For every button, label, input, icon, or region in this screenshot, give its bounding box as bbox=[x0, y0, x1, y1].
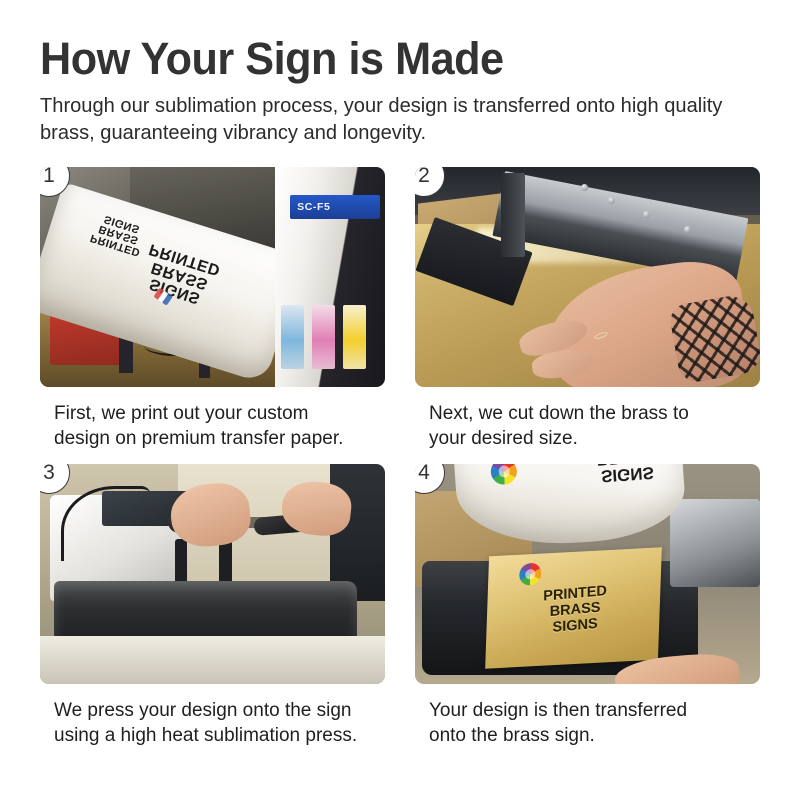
step-3: 3 We press your design onto the sign usi… bbox=[40, 464, 385, 749]
sign-line-3: SIGNS bbox=[553, 616, 598, 636]
step-2-photo: 2 bbox=[415, 167, 760, 387]
step-3-caption: We press your design onto the sign using… bbox=[54, 698, 385, 749]
page-title: How Your Sign is Made bbox=[40, 36, 731, 82]
blade-bolt bbox=[581, 184, 588, 191]
step-4-caption: Your design is then transferred onto the… bbox=[429, 698, 760, 749]
printer-model-panel: SC-F5 bbox=[290, 195, 380, 219]
brand-logo-icon bbox=[519, 563, 542, 586]
roll-text: SIGNSBRASSPRINTED bbox=[588, 464, 666, 485]
blade-bolt bbox=[684, 226, 691, 233]
step-1: PRINTED BRASS SIGNS SIGNSBRASSPRINTED SC… bbox=[40, 167, 385, 452]
press-cloth-cover bbox=[40, 636, 385, 684]
printer-model-label: SC-F5 bbox=[297, 201, 330, 213]
steps-grid: PRINTED BRASS SIGNS SIGNSBRASSPRINTED SC… bbox=[40, 167, 760, 749]
step-3-photo: 3 bbox=[40, 464, 385, 684]
press-rail bbox=[670, 499, 760, 587]
step-4-photo: PRINTEDBRASSSIGNS SIGNSBRASSPRINTED 4 bbox=[415, 464, 760, 684]
page-subtitle: Through our sublimation process, your de… bbox=[40, 93, 726, 147]
wrist-tattoo bbox=[668, 292, 760, 384]
finished-brass-sign: PRINTEDBRASSSIGNS bbox=[486, 547, 662, 669]
ink-cartridge-cyan bbox=[281, 305, 304, 369]
ink-cartridge-yellow bbox=[343, 305, 366, 369]
brand-logo-icon bbox=[491, 464, 519, 485]
infographic-page: How Your Sign is Made Through our sublim… bbox=[0, 0, 800, 800]
sign-text: PRINTEDBRASSSIGNS bbox=[501, 579, 649, 641]
step-4: PRINTEDBRASSSIGNS SIGNSBRASSPRINTED 4 Yo… bbox=[415, 464, 760, 749]
roll-text-primary: SIGNSBRASSPRINTED bbox=[132, 238, 228, 310]
step-2-caption: Next, we cut down the brass to your desi… bbox=[429, 401, 760, 452]
step-1-photo: PRINTED BRASS SIGNS SIGNSBRASSPRINTED SC… bbox=[40, 167, 385, 387]
cutter-arm bbox=[501, 173, 525, 257]
step-2: 2 Next, we cut down the brass to your de… bbox=[415, 167, 760, 452]
blade-bolt bbox=[643, 211, 650, 218]
step-1-caption: First, we print out your custom design o… bbox=[54, 401, 385, 452]
step-3-number-badge: 3 bbox=[40, 464, 70, 494]
ink-cartridge-magenta bbox=[312, 305, 335, 369]
